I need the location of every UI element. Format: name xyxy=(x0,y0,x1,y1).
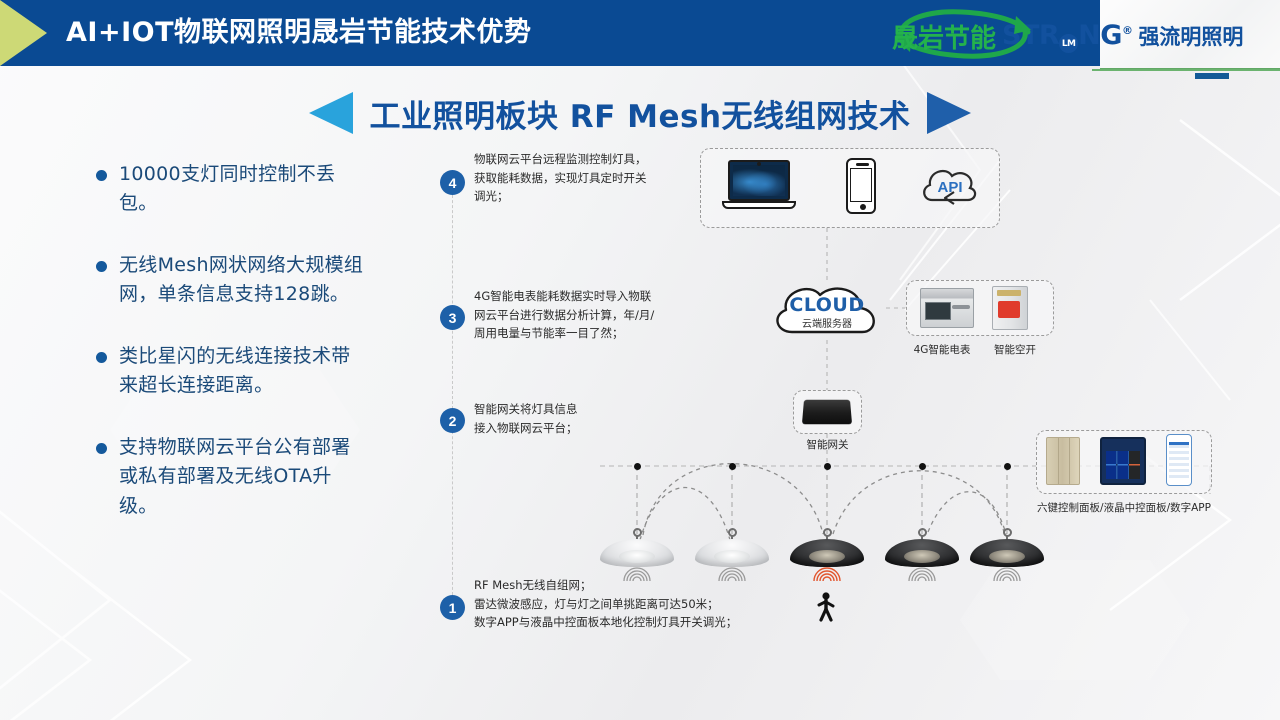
section-title: 工业照明板块 RF Mesh无线组网技术 xyxy=(369,91,910,136)
panel-caption: 六键控制面板/液晶中控面板/数字APP xyxy=(1036,500,1212,515)
gateway-caption: 智能网关 xyxy=(793,437,862,452)
page-title: AI+IOT物联网照明晟岩节能技术优势 xyxy=(66,0,531,66)
smart-meter-icon xyxy=(920,288,974,328)
smart-gateway-icon xyxy=(802,400,852,424)
step-text-2: 智能网关将灯具信息 接入物联网云平台； xyxy=(474,400,578,437)
bullet-text: 无线Mesh网状网络大规模组网，单条信息支持128跳。 xyxy=(119,251,364,310)
lamp-3-active xyxy=(790,528,864,568)
walking-person-icon xyxy=(815,592,837,622)
lcd-control-panel-icon xyxy=(1100,437,1146,485)
lamp-4-sensor-waves-icon xyxy=(907,566,937,584)
lamp-4 xyxy=(885,528,959,568)
section-title-row: 工业照明板块 RF Mesh无线组网技术 xyxy=(0,86,1280,140)
list-item: 类比星闪的无线连接技术带来超长连接距离。 xyxy=(96,342,364,401)
api-cloud-icon: API xyxy=(918,160,982,212)
lamp-3-sensor-waves-icon xyxy=(812,566,842,584)
cloud-en-text: CLOUD xyxy=(768,294,886,316)
slide-canvas: AI+IOT物联网照明晟岩节能技术优势 晟岩节能 STRLMNG® 强流明照明 … xyxy=(0,0,1280,720)
lamp-5-sensor-waves-icon xyxy=(992,566,1022,584)
six-key-panel-icon xyxy=(1046,437,1080,485)
mesh-node-dot xyxy=(729,463,736,470)
brand-logo: 晟岩节能 STRLMNG® 强流明照明 xyxy=(1092,0,1280,70)
bullet-dot-icon xyxy=(96,352,107,363)
header-chevron-icon xyxy=(0,0,47,66)
list-item: 10000支灯同时控制不丢包。 xyxy=(96,160,364,219)
bullet-dot-icon xyxy=(96,261,107,272)
step-badge-3: 3 xyxy=(440,305,465,330)
step-text-1: RF Mesh无线自组网； 雷达微波感应，灯与灯之间单挑距离可达50米； 数字A… xyxy=(474,576,737,632)
step-badge-4: 4 xyxy=(440,170,465,195)
right-triangle-icon xyxy=(927,92,971,134)
feature-bullet-list: 10000支灯同时控制不丢包。 无线Mesh网状网络大规模组网，单条信息支持12… xyxy=(96,160,364,553)
smart-breaker-icon xyxy=(992,286,1028,330)
phone-icon xyxy=(846,158,876,214)
breaker-caption: 智能空开 xyxy=(984,342,1046,357)
logo-underline-bar xyxy=(1195,73,1229,79)
logo-tagline: 强流明照明 xyxy=(1138,21,1243,51)
lamp-5 xyxy=(970,528,1044,568)
list-item: 无线Mesh网状网络大规模组网，单条信息支持128跳。 xyxy=(96,251,364,310)
step-text-3: 4G智能电表能耗数据实时导入物联 网云平台进行数据分析计算，年/月/ 周用电量与… xyxy=(474,287,654,343)
left-triangle-icon xyxy=(309,92,353,134)
mesh-node-dot xyxy=(634,463,641,470)
mobile-app-icon xyxy=(1166,434,1192,486)
step-badge-2: 2 xyxy=(440,408,465,433)
bullet-text: 10000支灯同时控制不丢包。 xyxy=(119,160,364,219)
bullet-text: 类比星闪的无线连接技术带来超长连接距离。 xyxy=(119,342,364,401)
meter-caption: 4G智能电表 xyxy=(906,342,978,357)
logo-chinese-brand: 晟岩节能 xyxy=(892,18,996,55)
laptop-icon xyxy=(722,160,796,212)
step-badge-1: 1 xyxy=(440,595,465,620)
step-1: 1 RF Mesh无线自组网； 雷达微波感应，灯与灯之间单挑距离可达50米； 数… xyxy=(440,576,750,632)
logo-green-rule xyxy=(1092,69,1280,71)
step-4: 4 物联网云平台远程监测控制灯具， 获取能耗数据，实现灯具定时开关 调光； xyxy=(440,150,680,206)
lamp-1 xyxy=(600,528,674,568)
mesh-node-dot xyxy=(919,463,926,470)
bullet-text: 支持物联网云平台公有部署或私有部署及无线OTA升级。 xyxy=(119,433,364,521)
step-3: 3 4G智能电表能耗数据实时导入物联 网云平台进行数据分析计算，年/月/ 周用电… xyxy=(440,287,690,343)
list-item: 支持物联网云平台公有部署或私有部署及无线OTA升级。 xyxy=(96,433,364,521)
step-text-4: 物联网云平台远程监测控制灯具， 获取能耗数据，实现灯具定时开关 调光； xyxy=(474,150,647,206)
bullet-dot-icon xyxy=(96,443,107,454)
logo-lm-badge: LM xyxy=(1059,34,1078,53)
mesh-node-dot xyxy=(824,463,831,470)
lamp-2 xyxy=(695,528,769,568)
cloud-cn-text: 云端服务器 xyxy=(768,315,886,330)
bullet-dot-icon xyxy=(96,170,107,181)
step-2: 2 智能网关将灯具信息 接入物联网云平台； xyxy=(440,400,670,437)
mesh-node-dot xyxy=(1004,463,1011,470)
cloud-label: CLOUD 云端服务器 xyxy=(768,294,886,330)
